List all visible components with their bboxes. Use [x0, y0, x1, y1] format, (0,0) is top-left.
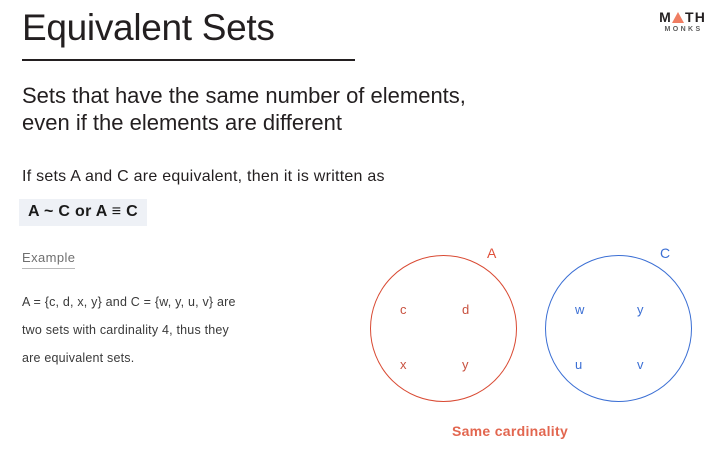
set-c-element: y [637, 302, 644, 317]
example-line-3: are equivalent sets. [22, 344, 352, 372]
slide-canvas: M TH MONKS Equivalent Sets Sets that hav… [0, 0, 720, 459]
page-title: Equivalent Sets [22, 7, 275, 49]
example-line-2: two sets with cardinality 4, thus they [22, 316, 352, 344]
triangle-icon [672, 12, 684, 23]
notation-statement: If sets A and C are equivalent, then it … [22, 168, 385, 186]
logo-letters-th: TH [685, 10, 706, 24]
logo-subtext: MONKS [661, 26, 706, 33]
set-c-circle [545, 255, 692, 402]
set-a-element: y [462, 357, 469, 372]
set-c-element: u [575, 357, 583, 372]
notation-formula: A ~ C or A ≡ C [19, 199, 147, 226]
logo-wordmark: M TH [659, 10, 706, 24]
example-line-1: A = {c, d, x, y} and C = {w, y, u, v} ar… [22, 288, 352, 316]
set-a-element: x [400, 357, 407, 372]
set-a-label: A [487, 245, 497, 261]
logo-letter-m: M [659, 10, 672, 24]
set-c-label: C [660, 245, 671, 261]
title-underline [22, 59, 355, 61]
set-c-element: w [575, 302, 585, 317]
example-heading: Example [22, 250, 75, 269]
example-text: A = {c, d, x, y} and C = {w, y, u, v} ar… [22, 288, 352, 372]
set-a-circle [370, 255, 517, 402]
mathmonks-logo: M TH MONKS [659, 10, 706, 33]
set-diagram: A c d x y C w y u v Same cardinality [360, 240, 720, 459]
diagram-caption: Same cardinality [360, 423, 660, 439]
set-a-element: d [462, 302, 470, 317]
set-c-element: v [637, 357, 644, 372]
definition-text: Sets that have the same number of elemen… [22, 82, 692, 136]
set-a-element: c [400, 302, 407, 317]
definition-line-1: Sets that have the same number of elemen… [22, 83, 466, 108]
definition-line-2: even if the elements are different [22, 109, 692, 136]
